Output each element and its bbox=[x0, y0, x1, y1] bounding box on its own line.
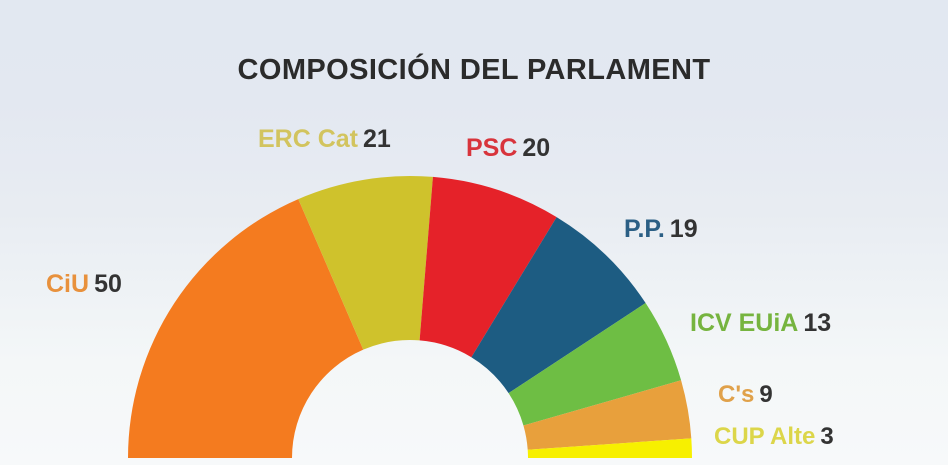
hemicycle-donut-chart bbox=[0, 0, 948, 465]
label-erc-cat-party: ERC Cat bbox=[258, 125, 358, 153]
label-psc-party: PSC bbox=[466, 134, 517, 162]
label-psc-seats: 20 bbox=[522, 134, 550, 162]
label-ciu-seats: 50 bbox=[94, 270, 122, 298]
label-cs-seats: 9 bbox=[759, 381, 772, 408]
label-ciu-party: CiU bbox=[46, 270, 89, 298]
label-icv-euia-seats: 13 bbox=[803, 309, 831, 337]
slice-group bbox=[128, 176, 692, 458]
label-pp: P.P.19 bbox=[624, 217, 698, 242]
label-cs-party: C's bbox=[718, 381, 754, 408]
label-psc: PSC20 bbox=[466, 136, 550, 161]
label-cup-alte-party: CUP Alte bbox=[714, 423, 815, 450]
parliament-composition-chart: COMPOSICIÓN DEL PARLAMENT CiU50 ERC Cat2… bbox=[0, 0, 948, 465]
label-ciu: CiU50 bbox=[46, 272, 122, 297]
label-pp-party: P.P. bbox=[624, 215, 665, 243]
label-erc-cat: ERC Cat21 bbox=[258, 127, 391, 152]
label-erc-cat-seats: 21 bbox=[363, 125, 391, 153]
label-cs: C's9 bbox=[718, 383, 773, 407]
label-cup-alte-seats: 3 bbox=[820, 423, 833, 450]
label-icv-euia: ICV EUiA13 bbox=[690, 311, 831, 336]
label-pp-seats: 19 bbox=[670, 215, 698, 243]
label-icv-euia-party: ICV EUiA bbox=[690, 309, 798, 337]
label-cup-alte: CUP Alte3 bbox=[714, 425, 834, 449]
